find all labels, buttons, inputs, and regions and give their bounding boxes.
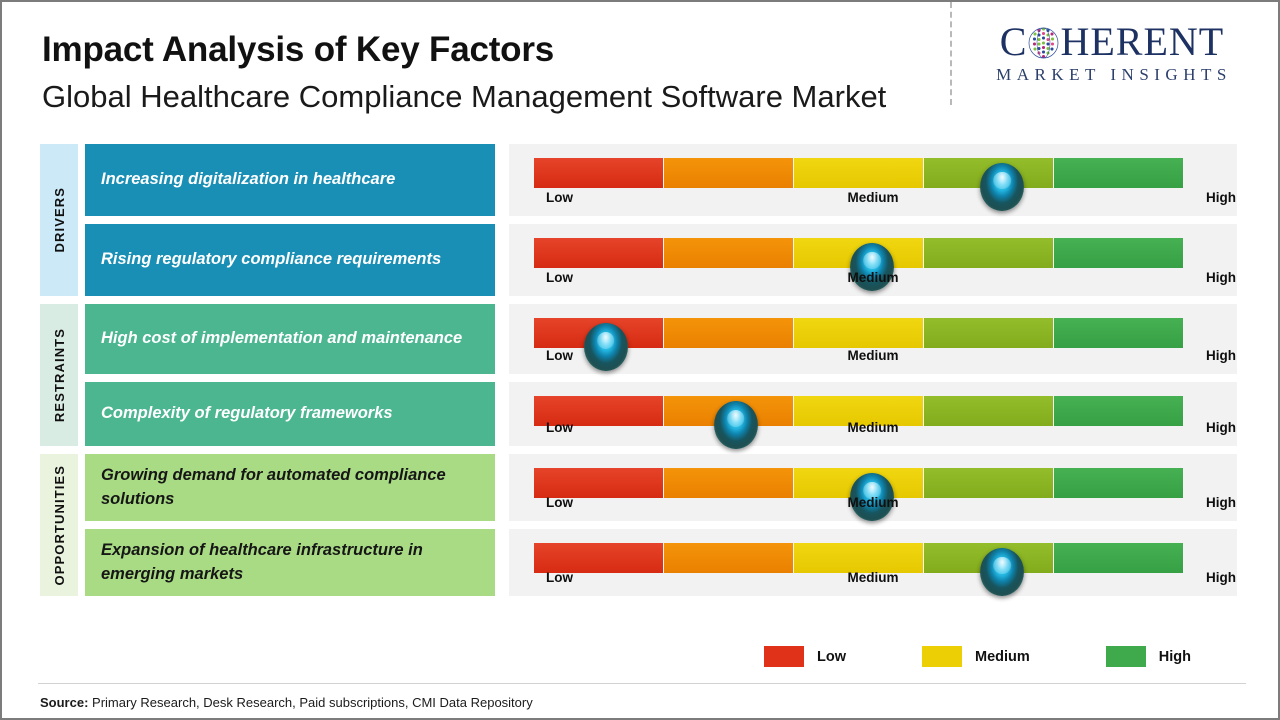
group-drivers: DRIVERS Increasing digitalization in hea… [40, 144, 1237, 296]
factor-label: Growing demand for automated compliance … [101, 464, 479, 511]
scale-label-low: Low [546, 420, 573, 435]
impact-gauge[interactable]: Low Medium High [509, 304, 1237, 374]
table-row: Expansion of healthcare infrastructure i… [85, 529, 1237, 596]
legend-swatch-medium [922, 646, 962, 667]
factor-box[interactable]: Increasing digitalization in healthcare [85, 144, 495, 216]
table-row: Growing demand for automated compliance … [85, 454, 1237, 521]
scale-label-medium: Medium [847, 348, 898, 363]
gauge-segment-high [1054, 318, 1184, 348]
source-text: Primary Research, Desk Research, Paid su… [88, 695, 532, 710]
legend-item-high: High [1106, 646, 1191, 667]
scale-label-high: High [1206, 190, 1236, 205]
company-logo: C [962, 22, 1262, 85]
gauge-segment-lowmid [664, 543, 794, 573]
scale-label-low: Low [546, 190, 573, 205]
gauge-segment-lowmid [664, 238, 794, 268]
factor-label: Rising regulatory compliance requirement… [101, 248, 441, 271]
gauge-segment-lowmid [664, 158, 794, 188]
factor-box[interactable]: High cost of implementation and maintena… [85, 304, 495, 374]
footer-divider [38, 683, 1246, 684]
dashed-divider [950, 2, 952, 105]
category-label-opportunities: OPPORTUNITIES [52, 465, 67, 585]
source-label: Source: [40, 695, 88, 710]
factor-label: Expansion of healthcare infrastructure i… [101, 539, 479, 586]
legend-swatch-high [1106, 646, 1146, 667]
logo-letters-herent: HERENT [1060, 22, 1224, 62]
table-row: High cost of implementation and maintena… [85, 304, 1237, 374]
table-row: Rising regulatory compliance requirement… [85, 224, 1237, 296]
gauge-scale-labels: Low Medium High [534, 270, 1212, 288]
source-note: Source: Primary Research, Desk Research,… [40, 695, 533, 710]
scale-label-low: Low [546, 270, 573, 285]
scale-label-low: Low [546, 495, 573, 510]
factor-box[interactable]: Complexity of regulatory frameworks [85, 382, 495, 446]
scale-label-low: Low [546, 570, 573, 585]
legend-label-low: Low [817, 649, 846, 665]
impact-matrix: DRIVERS Increasing digitalization in hea… [40, 144, 1237, 604]
gauge-segment-high [1054, 468, 1184, 498]
table-row: Increasing digitalization in healthcare [85, 144, 1237, 216]
gauge-scale-labels: Low Medium High [534, 570, 1212, 588]
factor-label: Increasing digitalization in healthcare [101, 168, 395, 191]
gauge-bar [534, 468, 1184, 498]
scale-label-medium: Medium [847, 270, 898, 285]
scale-label-medium: Medium [847, 190, 898, 205]
group-restraints: RESTRAINTS High cost of implementation a… [40, 304, 1237, 446]
scale-label-high: High [1206, 495, 1236, 510]
gauge-segment-lowmid [664, 318, 794, 348]
factor-label: High cost of implementation and maintena… [101, 327, 462, 350]
group-opportunities: OPPORTUNITIES Growing demand for automat… [40, 454, 1237, 596]
gauge-segment-low [534, 238, 664, 268]
gauge-segment-high [1054, 158, 1184, 188]
gauge-segment-lowmid [664, 468, 794, 498]
globe-icon [1028, 24, 1059, 62]
scale-label-medium: Medium [847, 495, 898, 510]
category-strip-restraints: RESTRAINTS [40, 304, 78, 446]
legend-item-low: Low [764, 646, 846, 667]
gauge-segment-low [534, 468, 664, 498]
gauge-segment-low [534, 543, 664, 573]
gauge-segment-medium [794, 318, 924, 348]
impact-gauge[interactable]: Low Medium High [509, 382, 1237, 446]
category-label-drivers: DRIVERS [52, 187, 67, 253]
category-strip-opportunities: OPPORTUNITIES [40, 454, 78, 596]
gauge-segment-low [534, 158, 664, 188]
scale-label-high: High [1206, 348, 1236, 363]
legend-label-high: High [1159, 649, 1191, 665]
gauge-segment-midhigh [924, 318, 1054, 348]
logo-letter-c: C [1000, 22, 1028, 62]
impact-gauge[interactable]: Low Medium High [509, 529, 1237, 596]
legend-item-medium: Medium [922, 646, 1030, 667]
scale-label-high: High [1206, 570, 1236, 585]
logo-tagline: MARKET INSIGHTS [962, 65, 1262, 85]
infographic-slide: Impact Analysis of Key Factors Global He… [0, 0, 1280, 720]
gauge-scale-labels: Low Medium High [534, 420, 1212, 438]
gauge-bar [534, 318, 1184, 348]
scale-label-medium: Medium [847, 570, 898, 585]
impact-gauge[interactable]: Low Medium High [509, 144, 1237, 216]
header: Impact Analysis of Key Factors Global He… [42, 30, 942, 115]
gauge-scale-labels: Low Medium High [534, 190, 1212, 208]
scale-label-medium: Medium [847, 420, 898, 435]
impact-gauge[interactable]: Low Medium High [509, 454, 1237, 521]
legend: Low Medium High [764, 646, 1191, 667]
page-title: Impact Analysis of Key Factors [42, 30, 942, 70]
table-row: Complexity of regulatory frameworks [85, 382, 1237, 446]
scale-label-high: High [1206, 420, 1236, 435]
gauge-segment-high [1054, 543, 1184, 573]
gauge-segment-medium [794, 543, 924, 573]
category-strip-drivers: DRIVERS [40, 144, 78, 296]
logo-wordmark: C [962, 22, 1262, 62]
factor-box[interactable]: Rising regulatory compliance requirement… [85, 224, 495, 296]
impact-gauge[interactable]: Low Medium High [509, 224, 1237, 296]
factor-label: Complexity of regulatory frameworks [101, 402, 393, 425]
gauge-segment-midhigh [924, 238, 1054, 268]
scale-label-low: Low [546, 348, 573, 363]
page-subtitle: Global Healthcare Compliance Management … [42, 78, 942, 115]
factor-box[interactable]: Growing demand for automated compliance … [85, 454, 495, 521]
gauge-bar [534, 158, 1184, 188]
gauge-segment-midhigh [924, 468, 1054, 498]
legend-label-medium: Medium [975, 649, 1030, 665]
factor-box[interactable]: Expansion of healthcare infrastructure i… [85, 529, 495, 596]
gauge-bar [534, 543, 1184, 573]
legend-swatch-low [764, 646, 804, 667]
category-label-restraints: RESTRAINTS [52, 328, 67, 422]
gauge-scale-labels: Low Medium High [534, 348, 1212, 366]
scale-label-high: High [1206, 270, 1236, 285]
gauge-segment-medium [794, 158, 924, 188]
gauge-scale-labels: Low Medium High [534, 495, 1212, 513]
gauge-segment-high [1054, 238, 1184, 268]
gauge-bar [534, 238, 1184, 268]
